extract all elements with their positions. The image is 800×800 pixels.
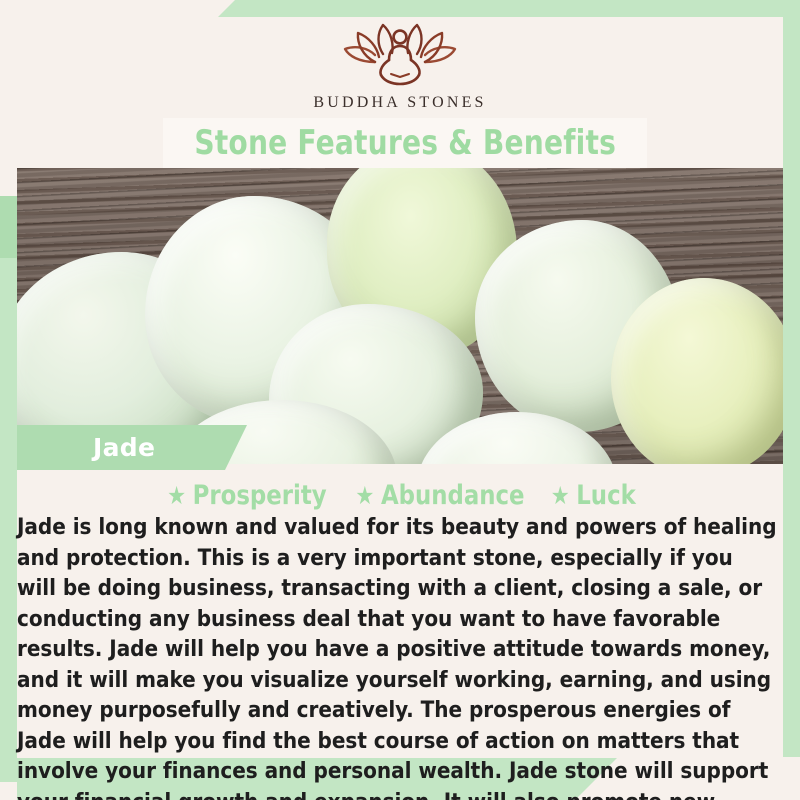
stone-name-label: Jade xyxy=(17,425,247,470)
brand-name: BUDDHA STONES xyxy=(313,94,486,112)
benefit-item-1: ★ Abundance xyxy=(355,480,524,511)
description-text: Jade is long known and valued for its be… xyxy=(17,512,783,800)
lotus-meditation-logo-icon xyxy=(339,18,461,90)
benefits-row: ★ Prosperity ★ Abundance ★ Luck xyxy=(17,478,783,512)
page-title: Stone Features & Benefits xyxy=(194,123,616,163)
benefit-label: Luck xyxy=(576,480,636,511)
stone-photo xyxy=(17,168,783,464)
benefit-item-2: ★ Luck xyxy=(550,480,635,511)
title-banner: Stone Features & Benefits xyxy=(163,118,647,168)
decor-band-left xyxy=(0,196,17,782)
star-icon: ★ xyxy=(550,483,569,508)
decor-band-top-right xyxy=(218,0,800,17)
benefit-label: Prosperity xyxy=(193,480,327,511)
benefit-label: Abundance xyxy=(381,480,525,511)
star-icon: ★ xyxy=(355,483,374,508)
poster-canvas: BUDDHA STONES Stone Features & Benefits … xyxy=(0,0,800,800)
star-icon: ★ xyxy=(167,483,186,508)
benefit-item-0: ★ Prosperity xyxy=(167,480,327,511)
brand-header: BUDDHA STONES xyxy=(0,18,800,112)
stone-name-text: Jade xyxy=(93,433,155,462)
decor-band-right xyxy=(783,17,800,757)
